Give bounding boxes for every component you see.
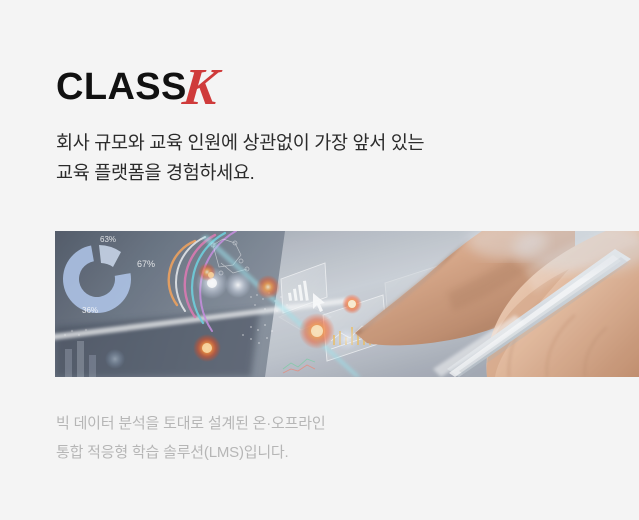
sub-copy-line-2: 통합 적응형 학습 솔루션(LMS)입니다. (56, 438, 576, 467)
sub-copy: 빅 데이터 분석을 토대로 설계된 온·오프라인 통합 적응형 학습 솔루션(L… (56, 409, 576, 467)
headline-line-1: 회사 규모와 교육 인원에 상관없이 가장 앞서 있는 (56, 128, 576, 158)
headline: 회사 규모와 교육 인원에 상관없이 가장 앞서 있는 교육 플랫폼을 경험하세… (56, 128, 576, 188)
sub-copy-line-1: 빅 데이터 분석을 토대로 설계된 온·오프라인 (56, 409, 576, 438)
landing-page: CLASS K 회사 규모와 교육 인원에 상관없이 가장 앞서 있는 교육 플… (0, 0, 639, 520)
hero-illustration: 63% 36% 67% (55, 231, 639, 377)
headline-line-2: 교육 플랫폼을 경험하세요. (56, 158, 576, 188)
brand-logo: CLASS K (56, 57, 217, 105)
brand-logo-word: CLASS (56, 68, 187, 106)
brand-logo-accent-letter: K (180, 62, 220, 114)
hero-image: 63% 36% 67% (55, 231, 639, 377)
